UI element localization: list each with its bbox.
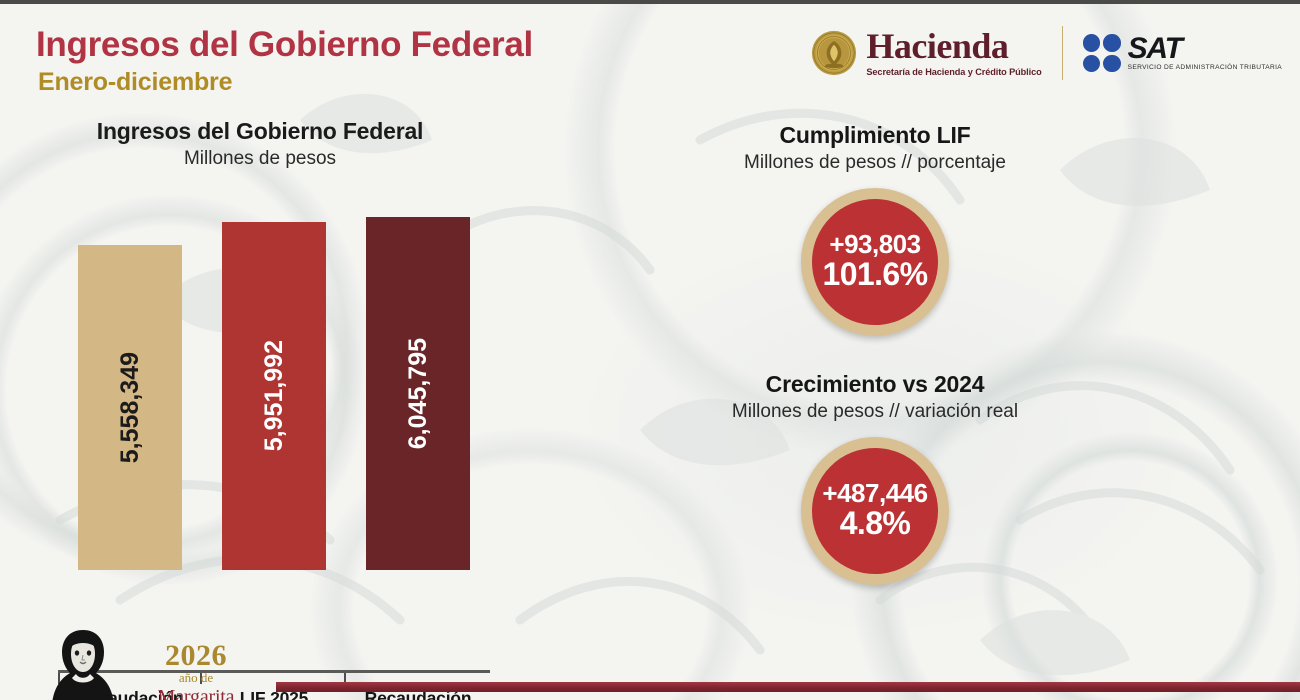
sat-four-circles-icon [1083,34,1121,72]
kpi-circle-cumplimiento: +93,803 101.6% [801,188,949,336]
logo-divider [1062,26,1063,80]
page-header: Ingresos del Gobierno Federal Enero-dici… [0,0,1300,112]
page-subtitle: Enero-diciembre [38,68,232,97]
kpi-heading: Crecimiento vs 2024 [595,371,1155,398]
kpi-amount: +487,446 [822,480,927,506]
chart-bar-value-label: 5,558,349 [116,352,145,463]
kpi-group-cumplimiento: Cumplimiento LIF Millones de pesos // po… [595,122,1155,336]
chart-bar: 5,951,992 [222,222,326,570]
year-of-label: año de [126,671,266,686]
kpi-group-crecimiento: Crecimiento vs 2024 Millones de pesos //… [595,371,1155,585]
page-title: Ingresos del Gobierno Federal [36,25,533,65]
margarita-maza-portrait-icon [48,622,118,700]
sat-dot [1103,55,1121,73]
hacienda-logo: Hacienda Secretaría de Hacienda y Crédit… [811,29,1041,76]
year-badge: 2026 año de Margarita [48,622,288,700]
kpi-percent: 101.6% [823,257,928,293]
year-number: 2026 [126,641,266,671]
kpi-heading: Cumplimiento LIF [595,122,1155,149]
kpi-subheading: Millones de pesos // porcentaje [595,152,1155,174]
sat-dot [1103,34,1121,52]
chart-bar: 6,045,795 [366,217,470,570]
sat-logo: SAT SERVICIO DE ADMINISTRACIÓN TRIBUTARI… [1083,34,1282,72]
kpi-percent: 4.8% [840,506,911,542]
kpi-panel: Cumplimiento LIF Millones de pesos // po… [560,118,1300,638]
kpi-circle-crecimiento: +487,446 4.8% [801,437,949,585]
sat-name: SAT [1128,35,1282,63]
chart-plot-area: 5,558,3495,951,9926,045,795 [58,196,490,570]
sat-dot [1083,34,1101,52]
bottom-accent-bar [276,682,1300,692]
sat-wordmark: SAT SERVICIO DE ADMINISTRACIÓN TRIBUTARI… [1128,35,1282,72]
year-honoree: Margarita [126,686,266,700]
top-edge-strip [0,0,1300,4]
bar-chart-panel: Ingresos del Gobierno Federal Millones d… [0,118,560,628]
sat-dot [1083,55,1101,73]
hacienda-tagline: Secretaría de Hacienda y Crédito Público [866,67,1041,77]
hacienda-wordmark: Hacienda Secretaría de Hacienda y Crédit… [866,29,1041,76]
chart-bar-value-label: 5,951,992 [260,340,289,451]
logo-lockup: Hacienda Secretaría de Hacienda y Crédit… [811,22,1282,84]
chart-bar-value-label: 6,045,795 [404,338,433,449]
sat-tagline: SERVICIO DE ADMINISTRACIÓN TRIBUTARIA [1128,64,1282,71]
kpi-subheading: Millones de pesos // variación real [595,401,1155,423]
kpi-amount: +93,803 [829,231,920,257]
year-badge-text: 2026 año de Margarita [126,641,266,700]
chart-bar: 5,558,349 [78,245,182,570]
hacienda-name: Hacienda [866,29,1041,64]
chart-subtitle: Millones de pesos [10,148,510,170]
mexican-eagle-seal-icon [811,30,857,76]
chart-title: Ingresos del Gobierno Federal [10,118,510,145]
